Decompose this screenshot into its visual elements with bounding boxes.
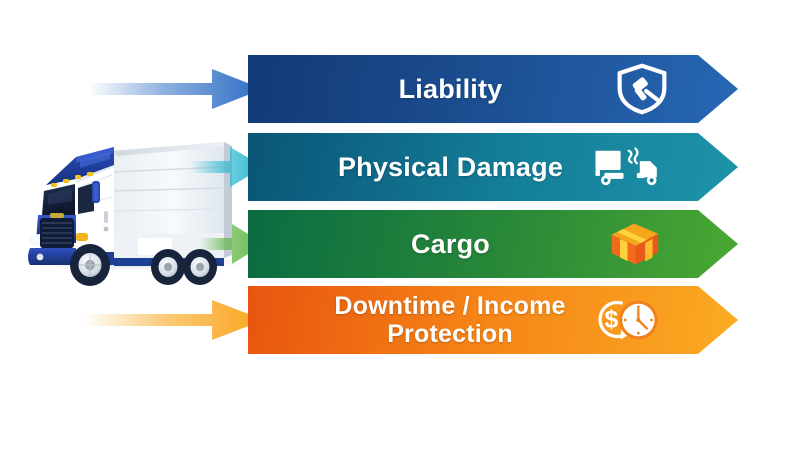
band-row-downtime-income-protection: Downtime / Income Protection $ — [0, 286, 800, 354]
band-title-line-1: Downtime / Income — [334, 292, 565, 320]
band-label-physical-damage: Physical Damage — [308, 133, 593, 201]
truck-collision-icon — [594, 139, 662, 195]
shield-gavel-icon — [608, 61, 676, 117]
band-title-line-2: Protection — [387, 320, 513, 348]
band-title-text: Physical Damage — [338, 152, 563, 182]
band-row-cargo: Cargo — [0, 210, 800, 278]
cargo-box-icon — [600, 216, 668, 272]
band-title-text: Cargo — [411, 229, 490, 259]
band-row-liability: Liability — [0, 55, 800, 123]
band-title-text: Liability — [399, 74, 503, 104]
dollar-clock-icon: $ — [592, 292, 660, 348]
band-row-physical-damage: Physical Damage — [0, 133, 800, 201]
band-label-downtime-income-protection: Downtime / Income Protection — [300, 286, 600, 354]
infographic-canvas: Liability — [0, 0, 800, 450]
feeder-arrow-downtime-income-protection — [84, 297, 264, 343]
band-label-cargo: Cargo — [308, 210, 593, 278]
feeder-arrow-liability — [88, 66, 263, 112]
band-label-liability: Liability — [308, 55, 593, 123]
svg-text:$: $ — [604, 307, 618, 334]
